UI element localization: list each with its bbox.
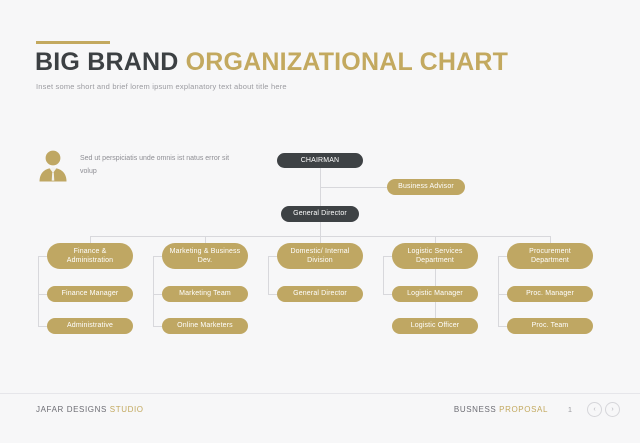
bracket-branch5-stub-head <box>498 256 507 257</box>
node-online-marketers[interactable]: Online Marketers <box>162 318 248 334</box>
bracket-branch2-stub-head <box>153 256 162 257</box>
bracket-branch1-stub-child1 <box>38 294 47 295</box>
node-logistic-officer[interactable]: Logistic Officer <box>392 318 478 334</box>
bracket-branch2-stub-child1 <box>153 294 162 295</box>
bracket-branch2-stub-child2 <box>153 326 162 327</box>
brand-name-dark: JAFAR DESIGNS <box>36 405 107 414</box>
prev-page-button[interactable]: ‹ <box>587 402 602 417</box>
connector-gd-down <box>320 222 321 236</box>
brand-name-gold: STUDIO <box>110 405 144 414</box>
node-finance-manager[interactable]: Finance Manager <box>47 286 133 302</box>
node-administrative[interactable]: Administrative <box>47 318 133 334</box>
node-proc-team[interactable]: Proc. Team <box>507 318 593 334</box>
node-general-director[interactable]: General Director <box>281 206 359 222</box>
deck-title-dark: BUSNESS <box>454 405 496 414</box>
node-domestic-general-director[interactable]: General Director <box>277 286 363 302</box>
bracket-branch4-stub-child1 <box>383 294 392 295</box>
bracket-branch1 <box>38 256 47 326</box>
chevron-left-icon: ‹ <box>593 406 595 413</box>
node-proc-manager[interactable]: Proc. Manager <box>507 286 593 302</box>
chevron-right-icon: › <box>611 406 613 413</box>
deck-title-gold: PROPOSAL <box>499 405 548 414</box>
org-chart: CHAIRMAN Business Advisor General Direct… <box>0 0 640 443</box>
node-procurement-department[interactable]: Procurement Department <box>507 243 593 269</box>
bracket-branch3 <box>268 256 277 294</box>
node-finance-administration[interactable]: Finance & Administration <box>47 243 133 269</box>
bracket-branch1-stub-child2 <box>38 326 47 327</box>
connector-to-business-advisor <box>320 187 387 188</box>
node-logistic-manager[interactable]: Logistic Manager <box>392 286 478 302</box>
bracket-branch4 <box>383 256 392 294</box>
page-number: 1 <box>568 405 572 414</box>
bracket-branch4-stub-head <box>383 256 392 257</box>
node-business-advisor[interactable]: Business Advisor <box>387 179 465 195</box>
deck-title: BUSNESS PROPOSAL <box>454 405 548 414</box>
slide: BIG BRAND ORGANIZATIONAL CHART Inset som… <box>0 0 640 443</box>
bracket-branch3-stub-head <box>268 256 277 257</box>
node-marketing-team[interactable]: Marketing Team <box>162 286 248 302</box>
bracket-branch5-stub-child2 <box>498 326 507 327</box>
node-logistic-services-department[interactable]: Logistic Services Department <box>392 243 478 269</box>
bracket-branch2 <box>153 256 162 326</box>
brand-logo: JAFAR DESIGNS STUDIO <box>36 405 144 414</box>
bracket-branch5-stub-child1 <box>498 294 507 295</box>
footer-divider <box>0 393 640 394</box>
pagination-controls: ‹ › <box>587 402 620 417</box>
node-marketing-business-dev[interactable]: Marketing & Business Dev. <box>162 243 248 269</box>
bracket-branch3-stub-child1 <box>268 294 277 295</box>
node-domestic-internal-division[interactable]: Domestic/ Internal Division <box>277 243 363 269</box>
node-chairman[interactable]: CHAIRMAN <box>277 153 363 168</box>
bracket-branch1-stub-head <box>38 256 47 257</box>
next-page-button[interactable]: › <box>605 402 620 417</box>
bracket-branch5 <box>498 256 507 326</box>
